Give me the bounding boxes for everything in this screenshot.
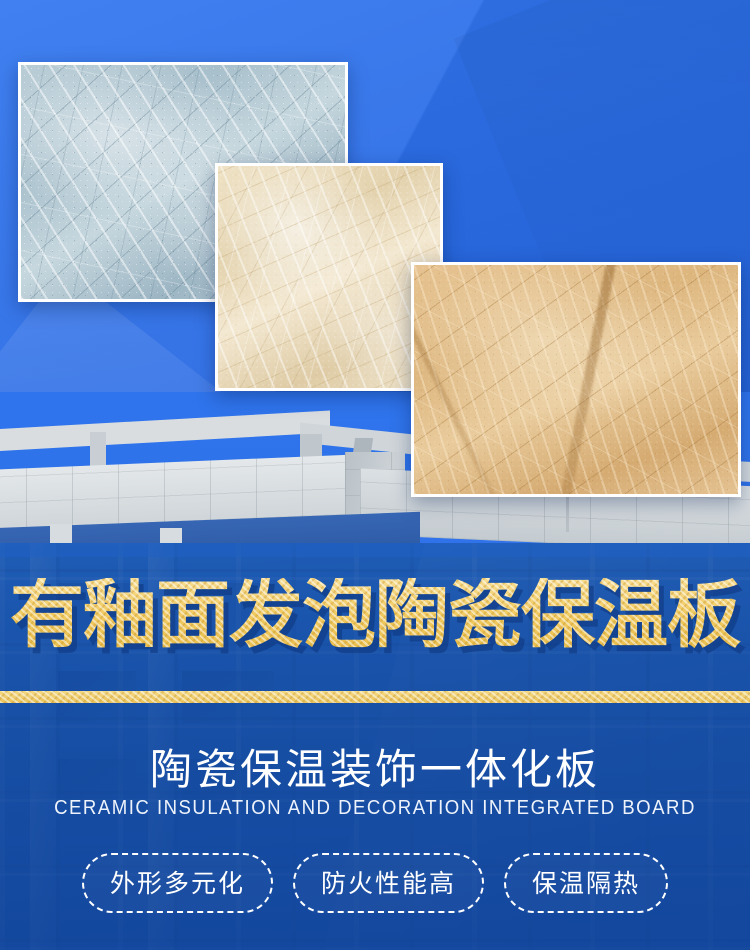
feature-badge[interactable]: 保温隔热 [504,853,668,913]
feature-badge[interactable]: 防火性能高 [293,853,484,913]
subtitle-english: CERAMIC INSULATION AND DECORATION INTEGR… [26,797,724,820]
roof-column [90,432,106,466]
street-lamp-pole [566,492,569,532]
subtitle-chinese: 陶瓷保温装饰一体化板 [0,736,750,797]
headline-title: 有釉面发泡陶瓷保温板 [0,578,750,652]
feature-badge-list: 外形多元化 防火性能高 保温隔热 [0,853,750,913]
tan-marble-tile [411,262,741,497]
overlay-top-strip [0,543,750,557]
tile-speckle [218,166,440,388]
product-promo-banner: 有釉面发泡陶瓷保温板 陶瓷保温装饰一体化板 CERAMIC INSULATION… [0,0,750,950]
gold-divider-rule [0,691,750,703]
cream-travertine-tile [215,163,443,391]
tile-speckle [414,265,738,494]
feature-badge[interactable]: 外形多元化 [82,853,273,913]
